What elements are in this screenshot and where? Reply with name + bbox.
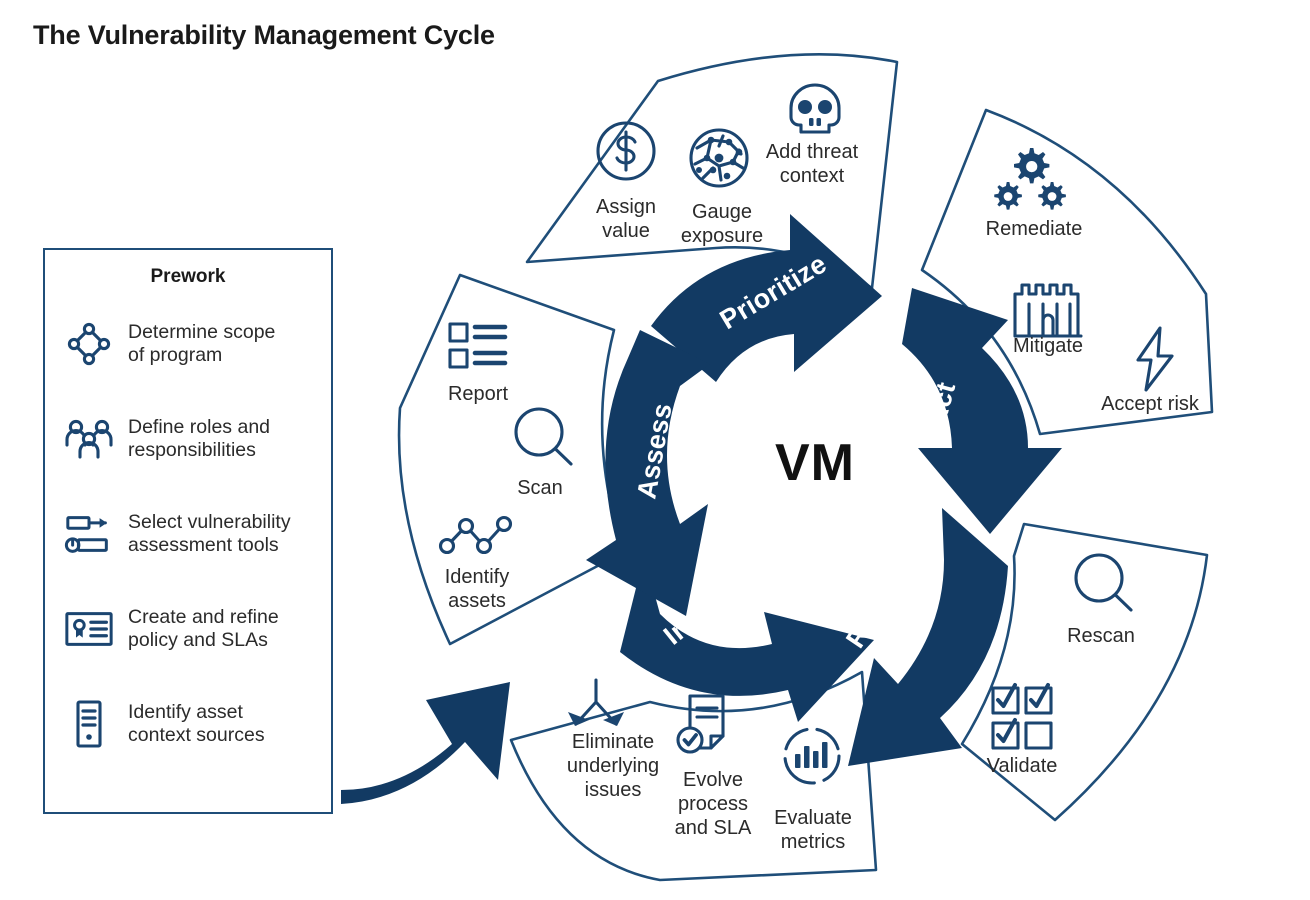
report-list-icon [450,324,505,367]
stage-re-assess-content: Rescan Validate [987,555,1135,777]
document-check-icon [678,696,723,752]
petal-label: Evaluatemetrics [774,807,852,853]
petal-label: Accept risk [1101,393,1200,415]
petal-label: Assignvalue [596,196,656,242]
prework-item-define-roles: Define roles and responsibilities [45,397,331,481]
petal-improve [511,672,876,880]
petal-label: Identifyassets [445,566,509,612]
prework-list: Determine scope of program Define roles … [45,302,331,766]
magnifier-icon [1076,555,1131,610]
prework-heading: Prework [45,266,331,288]
prework-item-label: Define roles and responsibilities [128,416,270,463]
petal-act [922,110,1212,434]
prework-item-label: Create and refine policy and SLAs [128,606,279,653]
gears-icon [994,148,1066,210]
prework-item-identify-context: Identify asset context sources [45,682,331,766]
petal-label: Eliminateunderlyingissues [567,731,659,801]
network-globe-icon [691,130,747,186]
connected-nodes-icon [441,518,511,553]
stage-improve-content: Eliminateunderlyingissues Evolveprocessa… [567,680,852,853]
lightning-bolt-icon [1138,328,1172,390]
arrow-improve [620,556,874,722]
petal-label: Rescan [1067,625,1135,647]
prework-item-select-tools: Select vulnerability assessment tools [45,492,331,576]
petal-label: Validate [987,755,1058,777]
prework-item-label: Identify asset context sources [128,701,265,748]
petal-label: Remediate [986,218,1083,240]
petal-label: Scan [517,477,563,499]
branching-arrows-icon [568,680,624,726]
checkbox-grid-icon [993,685,1051,748]
arrow-label-text: Act [921,379,961,430]
prework-panel: Prework Determine scope of program [43,248,333,814]
arrow-re-assess [848,508,1008,766]
arrow-label-text: Re-assess [840,524,941,654]
arrow-label-act: Act [921,379,961,430]
server-rack-icon [63,698,115,750]
prework-item-label: Determine scope of program [128,321,275,368]
petal-assess [399,275,624,644]
prework-to-cycle-arrow [341,682,510,804]
arrow-prioritize [651,214,882,382]
arrow-act [902,288,1062,534]
arrow-label-text: Improve [658,560,760,651]
dollar-circle-icon [598,123,654,179]
skull-icon [791,85,839,132]
petal-label: Evolveprocessand SLA [675,769,752,839]
page-title: The Vulnerability Management Cycle [33,20,495,51]
policy-card-icon [63,603,115,655]
people-group-icon [63,413,115,465]
center-label-vm: VM [775,434,855,492]
castle-icon [1015,285,1081,336]
arrow-label-text: Prioritize [715,248,832,335]
petal-label: Add threatcontext [766,141,859,187]
arrow-label-prioritize: Prioritize [715,248,832,335]
arrow-assess [586,330,710,616]
tools-wrench-icon [63,508,115,560]
petal-label: Report [448,383,508,405]
bar-chart-circle-icon [785,729,839,783]
prework-item-determine-scope: Determine scope of program [45,302,331,386]
petal-re-assess [962,524,1207,820]
stage-act-content: Remediate Mitigate Accept risk [986,148,1200,415]
petal-prioritize [527,54,897,288]
petal-label: Gaugeexposure [681,201,763,247]
arrow-label-text: Assess [631,401,677,501]
prework-item-label: Select vulnerability assessment tools [128,511,291,558]
stage-assess-content: Report Scan Identifyassets [441,324,572,612]
arrow-label-improve: Improve [658,560,760,651]
prework-item-create-policy: Create and refine policy and SLAs [45,587,331,671]
arrow-label-assess: Assess [631,401,677,501]
magnifier-icon [516,409,571,464]
scope-nodes-icon [63,318,115,370]
petal-label: Mitigate [1013,335,1083,357]
arrow-label-re-assess: Re-assess [840,524,941,654]
stage-prioritize-content: Assignvalue Gaugeexposure [596,85,859,247]
